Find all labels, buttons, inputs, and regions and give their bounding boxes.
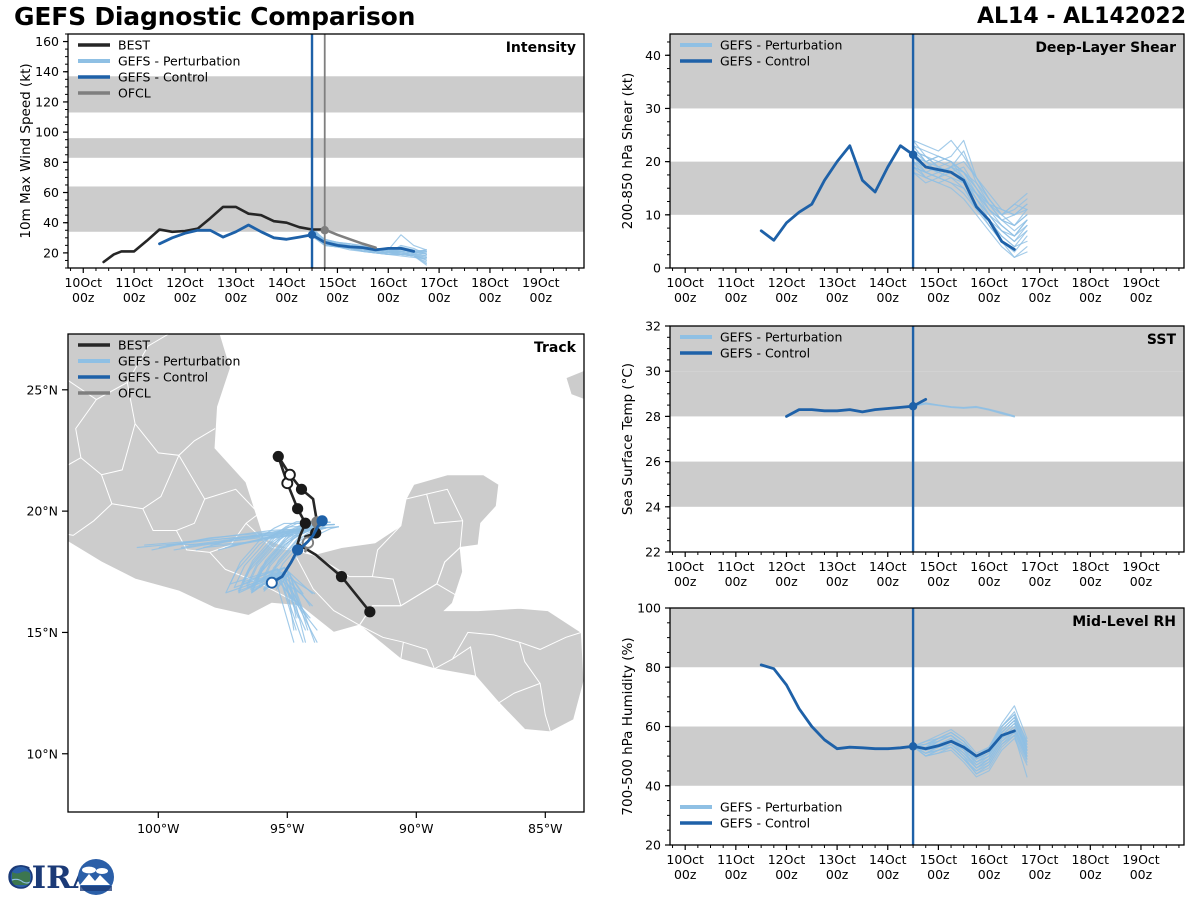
x-tick-label: 10Oct — [666, 852, 704, 867]
legend-label-perturbation: GEFS - Perturbation — [118, 54, 240, 69]
y-tick-label: 0 — [653, 261, 661, 276]
x-tick-label: 17Oct — [1021, 275, 1059, 290]
x-tick-label: 17Oct — [1021, 852, 1059, 867]
y-tick-label: 40 — [645, 48, 661, 63]
x-tick-label: 18Oct — [471, 275, 509, 290]
y-axis-label: Sea Surface Temp (°C) — [620, 363, 636, 515]
x-tick-label: 16Oct — [370, 275, 408, 290]
x-tick-sublabel: 00z — [1130, 574, 1153, 589]
x-tick-sublabel: 00z — [826, 574, 849, 589]
y-axis-label: 200-850 hPa Shear (kt) — [620, 73, 636, 230]
intensity-panel: 2040608010012014016010Oct00z11Oct00z12Oc… — [0, 26, 600, 316]
analysis-dot-ofcl — [321, 226, 329, 234]
x-tick-label: 15Oct — [920, 275, 958, 290]
intensity-band-1 — [670, 371, 1184, 416]
x-tick-sublabel: 00z — [725, 574, 748, 589]
x-tick-label: 19Oct — [1122, 275, 1160, 290]
x-tick-label: 12Oct — [166, 275, 204, 290]
x-tick-sublabel: 00z — [72, 290, 95, 305]
analysis-dot-control — [308, 231, 316, 239]
legend-label-control: GEFS - Control — [118, 370, 208, 385]
lon-tick-label: 85°W — [528, 821, 563, 836]
legend-label-best: BEST — [118, 338, 150, 353]
y-tick-label: 100 — [637, 601, 661, 616]
x-tick-sublabel: 00z — [775, 290, 798, 305]
shear-panel: 01020304010Oct00z11Oct00z12Oct00z13Oct00… — [600, 26, 1200, 316]
lon-tick-label: 100°W — [137, 821, 179, 836]
y-tick-label: 100 — [35, 125, 59, 140]
legend-label-perturbation: GEFS - Perturbation — [720, 330, 842, 345]
best-track-marker — [293, 504, 303, 514]
x-tick-sublabel: 00z — [927, 290, 950, 305]
x-tick-sublabel: 00z — [725, 290, 748, 305]
legend-label-perturbation: GEFS - Perturbation — [720, 800, 842, 815]
y-tick-label: 30 — [645, 364, 661, 379]
x-tick-label: 17Oct — [420, 275, 458, 290]
shear-panel-tag: Deep-Layer Shear — [1035, 40, 1176, 56]
x-tick-label: 10Oct — [666, 275, 704, 290]
control-track-marker — [267, 578, 277, 588]
x-tick-sublabel: 00z — [1130, 290, 1153, 305]
x-tick-sublabel: 00z — [123, 290, 146, 305]
y-tick-label: 140 — [35, 64, 59, 79]
lat-tick-label: 20°N — [26, 504, 58, 519]
lat-tick-label: 10°N — [26, 746, 58, 761]
x-tick-label: 19Oct — [1122, 559, 1160, 574]
x-tick-label: 10Oct — [666, 559, 704, 574]
x-tick-sublabel: 00z — [674, 290, 697, 305]
x-tick-label: 13Oct — [818, 559, 856, 574]
analysis-dot-control — [909, 742, 917, 750]
x-tick-label: 12Oct — [768, 852, 806, 867]
best-track-marker — [365, 607, 375, 617]
x-tick-sublabel: 00z — [725, 867, 748, 882]
y-tick-label: 120 — [35, 94, 59, 109]
x-tick-label: 11Oct — [717, 275, 755, 290]
x-tick-sublabel: 00z — [674, 867, 697, 882]
x-tick-sublabel: 00z — [1028, 867, 1051, 882]
x-tick-label: 13Oct — [818, 275, 856, 290]
intensity-band-1 — [68, 138, 584, 158]
x-tick-sublabel: 00z — [1079, 867, 1102, 882]
y-tick-label: 32 — [645, 319, 661, 334]
rh-panel: 2040608010010Oct00z11Oct00z12Oct00z13Oct… — [600, 602, 1200, 897]
x-tick-sublabel: 00z — [377, 290, 400, 305]
x-tick-sublabel: 00z — [1079, 574, 1102, 589]
control-track-marker — [317, 516, 327, 526]
x-tick-label: 18Oct — [1072, 559, 1110, 574]
x-tick-label: 14Oct — [869, 852, 907, 867]
x-tick-label: 11Oct — [717, 559, 755, 574]
intensity-band-0 — [68, 186, 584, 231]
analysis-dot-control — [909, 402, 917, 410]
x-tick-label: 19Oct — [1122, 852, 1160, 867]
x-tick-label: 16Oct — [970, 852, 1008, 867]
intensity-plot: 2040608010012014016010Oct00z11Oct00z12Oc… — [0, 26, 600, 316]
x-tick-label: 15Oct — [920, 852, 958, 867]
legend-label-ofcl: OFCL — [118, 386, 151, 401]
y-tick-label: 60 — [645, 719, 661, 734]
x-tick-label: 16Oct — [970, 559, 1008, 574]
x-tick-sublabel: 00z — [978, 867, 1001, 882]
x-tick-sublabel: 00z — [927, 867, 950, 882]
best-track-marker — [296, 484, 306, 494]
x-tick-label: 13Oct — [818, 852, 856, 867]
best-track-marker — [285, 470, 295, 480]
y-tick-label: 26 — [645, 454, 661, 469]
x-tick-sublabel: 00z — [826, 867, 849, 882]
x-tick-label: 14Oct — [869, 275, 907, 290]
legend-label-control: GEFS - Control — [720, 54, 810, 69]
legend-label-perturbation: GEFS - Perturbation — [720, 38, 842, 53]
best-track-marker — [336, 572, 346, 582]
y-tick-label: 20 — [645, 154, 661, 169]
x-tick-sublabel: 00z — [775, 867, 798, 882]
lon-tick-label: 95°W — [270, 821, 305, 836]
x-tick-label: 16Oct — [970, 275, 1008, 290]
y-tick-label: 80 — [43, 155, 59, 170]
lat-tick-label: 15°N — [26, 625, 58, 640]
sst-plot: 22242628303210Oct00z11Oct00z12Oct00z13Oc… — [600, 320, 1200, 598]
y-tick-label: 28 — [645, 409, 661, 424]
legend-label-control: GEFS - Control — [720, 346, 810, 361]
y-tick-label: 20 — [645, 838, 661, 853]
analysis-dot-control — [909, 151, 917, 159]
x-tick-sublabel: 00z — [225, 290, 248, 305]
lat-tick-label: 25°N — [26, 382, 58, 397]
x-tick-label: 18Oct — [1072, 852, 1110, 867]
x-tick-sublabel: 00z — [877, 290, 900, 305]
y-tick-label: 30 — [645, 101, 661, 116]
x-tick-label: 19Oct — [522, 275, 560, 290]
y-tick-label: 40 — [43, 215, 59, 230]
x-tick-sublabel: 00z — [978, 290, 1001, 305]
legend-label-best: BEST — [118, 38, 150, 53]
x-tick-sublabel: 00z — [275, 290, 298, 305]
legend-label-perturbation: GEFS - Perturbation — [118, 354, 240, 369]
x-tick-label: 14Oct — [268, 275, 306, 290]
x-tick-sublabel: 00z — [1028, 574, 1051, 589]
y-tick-label: 22 — [645, 545, 661, 560]
lon-tick-label: 90°W — [399, 821, 434, 836]
x-tick-sublabel: 00z — [877, 867, 900, 882]
x-tick-sublabel: 00z — [674, 574, 697, 589]
intensity-band-0 — [670, 462, 1184, 507]
y-axis-label: 10m Max Wind Speed (kt) — [18, 63, 34, 238]
y-tick-label: 20 — [43, 245, 59, 260]
y-tick-label: 80 — [645, 660, 661, 675]
x-tick-sublabel: 00z — [877, 574, 900, 589]
rh-plot: 2040608010010Oct00z11Oct00z12Oct00z13Oct… — [600, 602, 1200, 897]
y-tick-label: 60 — [43, 185, 59, 200]
x-tick-label: 15Oct — [319, 275, 357, 290]
legend-label-control: GEFS - Control — [720, 816, 810, 831]
x-tick-sublabel: 00z — [927, 574, 950, 589]
legend-label-ofcl: OFCL — [118, 86, 151, 101]
x-tick-label: 13Oct — [217, 275, 255, 290]
cira-logo: CIRA — [4, 856, 116, 898]
y-tick-label: 24 — [645, 499, 661, 514]
track-panel: 10°N15°N20°N25°N100°W95°W90°W85°WTrackBE… — [0, 326, 600, 856]
rh-panel-tag: Mid-Level RH — [1072, 614, 1176, 630]
intensity-panel-tag: Intensity — [506, 40, 576, 56]
x-tick-sublabel: 00z — [978, 574, 1001, 589]
x-tick-sublabel: 00z — [479, 290, 502, 305]
legend-label-control: GEFS - Control — [118, 70, 208, 85]
x-tick-sublabel: 00z — [1079, 290, 1102, 305]
x-tick-label: 12Oct — [768, 275, 806, 290]
x-tick-sublabel: 00z — [326, 290, 349, 305]
x-tick-label: 15Oct — [920, 559, 958, 574]
y-tick-label: 160 — [35, 34, 59, 49]
y-axis-label: 700-500 hPa Humidity (%) — [620, 637, 636, 815]
x-tick-label: 14Oct — [869, 559, 907, 574]
sst-panel: 22242628303210Oct00z11Oct00z12Oct00z13Oc… — [600, 320, 1200, 598]
x-tick-label: 17Oct — [1021, 559, 1059, 574]
best-track-marker — [273, 452, 283, 462]
x-tick-sublabel: 00z — [775, 574, 798, 589]
x-tick-label: 18Oct — [1072, 275, 1110, 290]
y-tick-label: 10 — [645, 207, 661, 222]
x-tick-label: 11Oct — [115, 275, 153, 290]
x-tick-sublabel: 00z — [1130, 867, 1153, 882]
x-tick-sublabel: 00z — [826, 290, 849, 305]
x-tick-sublabel: 00z — [530, 290, 553, 305]
best-track-marker — [300, 518, 310, 528]
x-tick-label: 11Oct — [717, 852, 755, 867]
x-tick-sublabel: 00z — [174, 290, 197, 305]
x-tick-label: 10Oct — [64, 275, 102, 290]
track-plot: 10°N15°N20°N25°N100°W95°W90°W85°WTrackBE… — [0, 326, 600, 856]
x-tick-sublabel: 00z — [1028, 290, 1051, 305]
control-track-marker — [293, 545, 303, 555]
x-tick-sublabel: 00z — [428, 290, 451, 305]
track-panel-tag: Track — [534, 340, 577, 356]
sst-panel-tag: SST — [1147, 332, 1177, 348]
x-tick-label: 12Oct — [768, 559, 806, 574]
shear-plot: 01020304010Oct00z11Oct00z12Oct00z13Oct00… — [600, 26, 1200, 316]
y-tick-label: 40 — [645, 778, 661, 793]
intensity-band-0 — [670, 162, 1184, 215]
